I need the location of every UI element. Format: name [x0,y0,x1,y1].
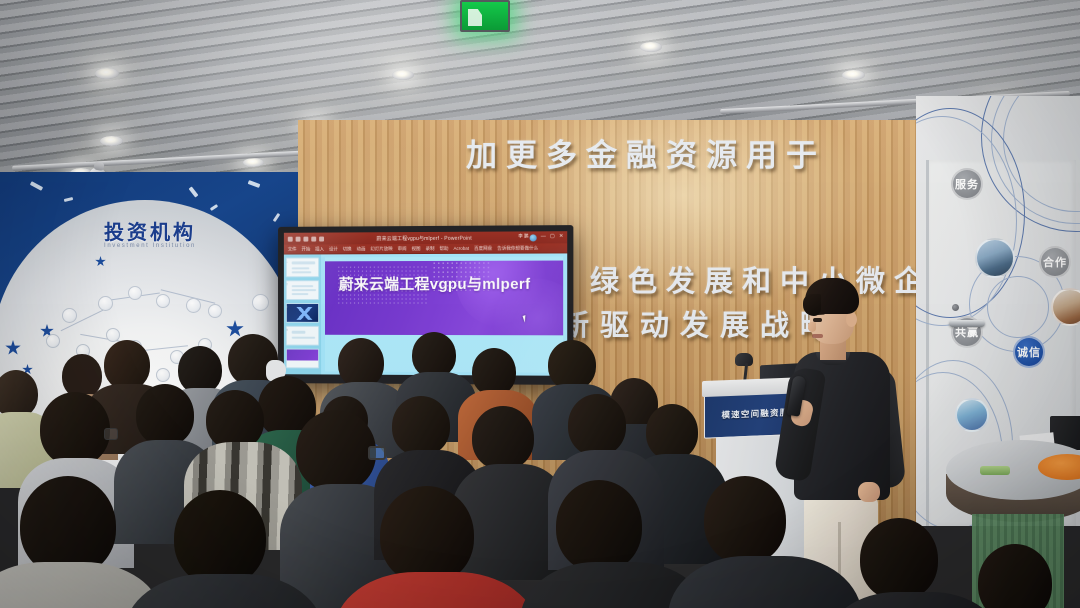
maximize-icon[interactable]: ▢ [550,234,555,239]
audience-head [548,340,596,390]
audience-head [104,340,150,390]
slide-title-banner [325,261,563,336]
ribbon-tab-review[interactable]: 审阅 [398,246,407,252]
window-controls[interactable]: — ▢ ✕ [541,234,564,239]
partner-logo-badge [98,296,113,311]
wall-slogan-line-1: 加更多金融资源用于 [466,130,826,175]
partner-logo-badge [62,308,77,323]
slide-thumbnail[interactable]: 1 [286,257,319,277]
confetti-decor [30,181,43,191]
audience-head [860,518,938,600]
audience-head [338,338,384,388]
downlight [100,136,123,146]
ribbon-tab-transitions[interactable]: 切换 [343,246,352,252]
audience-head [704,476,786,564]
audience-head [568,394,626,456]
partner-logo-badge [186,298,201,313]
decor-photo-circle [975,238,1015,278]
audience-head [296,410,376,492]
audience-head [646,404,698,460]
confetti-decor [248,180,261,188]
thumb-placeholder [292,293,309,295]
ribbon-tab-animations[interactable]: 动画 [357,246,366,252]
presenter-eye [813,318,822,322]
partner-logo-badge [252,294,269,311]
confetti-decor [210,204,218,211]
partner-logo-badge [156,294,170,308]
avatar[interactable] [530,234,537,241]
downlight [640,42,662,52]
exit-sign [460,0,510,32]
audience-head [136,384,194,446]
ribbon-tab-insert[interactable]: 插入 [315,246,324,252]
audience-head [206,390,264,450]
eyeglasses-icon [104,428,118,440]
ribbon-tab-home[interactable]: 开始 [301,246,310,252]
value-tag-service: 服务 [951,168,983,200]
ribbon-tab-help[interactable]: 帮助 [439,245,448,251]
thumb-placeholder [292,289,316,291]
close-icon[interactable]: ✕ [559,234,564,239]
eyeglasses-icon [368,446,386,460]
thumb-placeholder [292,261,315,264]
audience-seating [0,330,1080,608]
slide-thumbnail[interactable]: 2 [286,280,319,300]
ribbon-tab-acrobat[interactable]: Acrobat [453,246,469,251]
slide-number: 1 [286,259,288,263]
thumb-placeholder [292,285,314,287]
audience-head [20,476,116,576]
slide-number: 2 [286,282,288,286]
audience-head [472,348,516,396]
ribbon-tab-slideshow[interactable]: 幻灯片放映 [370,246,392,252]
slide-title-text: 蔚来云端工程vgpu与mlperf [339,274,539,297]
ribbon-tab-file[interactable]: 文件 [288,246,297,252]
thumb-placeholder [292,267,310,269]
ribbon-tab-view[interactable]: 视图 [412,246,421,252]
door-lock-icon [952,304,959,311]
audience-head [556,480,642,572]
minimize-icon[interactable]: — [541,234,546,239]
door-handle[interactable] [949,320,985,327]
confetti-decor [189,186,199,197]
ribbon-tab-record[interactable]: 录制 [425,245,434,251]
partner-logo-badge [208,304,222,318]
presenter-ear [846,312,857,327]
downlight [95,68,119,79]
audience-head [174,490,266,586]
thumb-placeholder [292,271,312,273]
audience-head [472,406,534,470]
downlight [842,70,865,80]
audience-head [0,370,38,418]
ribbon-tab-design[interactable]: 设计 [329,246,338,252]
investment-board-subtitle: Investment Institution [0,243,300,249]
conference-room-scene: 投资机构 Investment Institution [0,0,1080,608]
partner-logo-badge [128,286,142,300]
audience-head [40,392,110,466]
confetti-decor [64,197,73,202]
audience-head [392,396,450,456]
audience-head [380,486,474,584]
downlight [392,70,414,80]
slide-number: 3 [286,305,288,309]
account-name: 李 鹏 [518,233,528,239]
presenter-hair [805,278,859,314]
downlight [243,158,264,167]
slide-thumbnail[interactable]: 3 [286,303,319,323]
value-tag-cooperation: 合作 [1039,246,1071,278]
audience-head [178,346,222,394]
tell-me-search-box[interactable]: 告诉我你想要做什么 [497,245,538,251]
arc-ring-inner [987,276,1049,338]
audience-head [978,544,1052,608]
investment-board-title: 投资机构 [0,216,300,245]
ribbon-tab-baidunetdisk[interactable]: 百度网盘 [474,245,492,251]
